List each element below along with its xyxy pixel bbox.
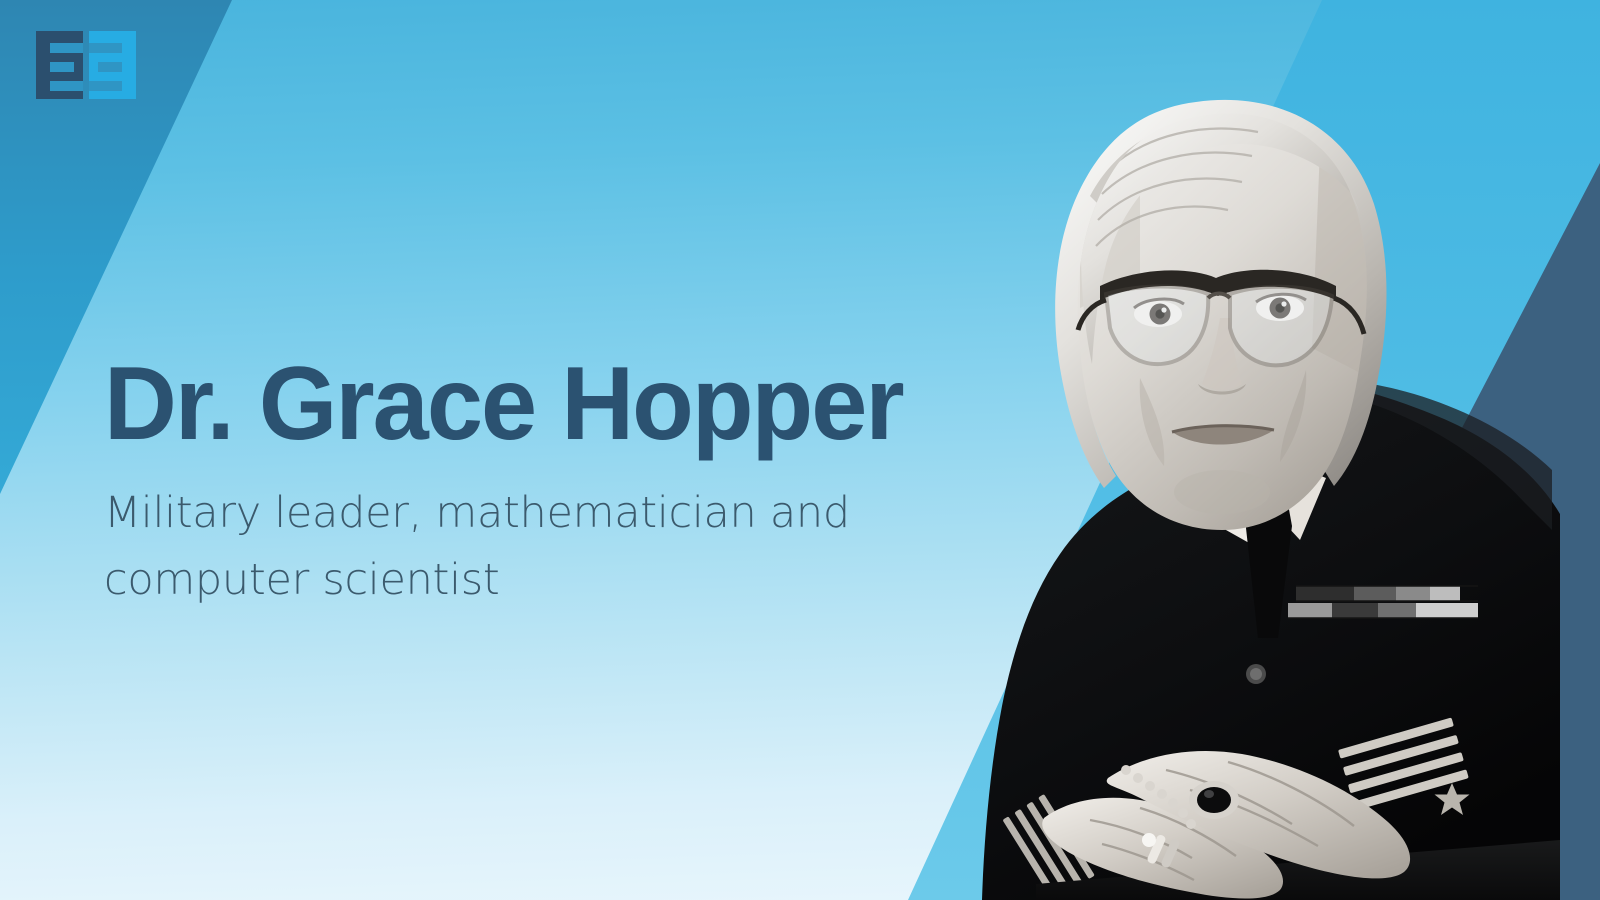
hero-banner: Dr. Grace Hopper Military leader, mathem… <box>0 0 1600 900</box>
grace-hopper-portrait <box>940 78 1560 900</box>
e3-logo[interactable] <box>36 31 142 99</box>
page-title: Dr. Grace Hopper <box>104 352 1074 456</box>
portrait-onyx-ring <box>1189 781 1239 819</box>
page-subtitle: Military leader, mathematician and compu… <box>104 480 944 613</box>
